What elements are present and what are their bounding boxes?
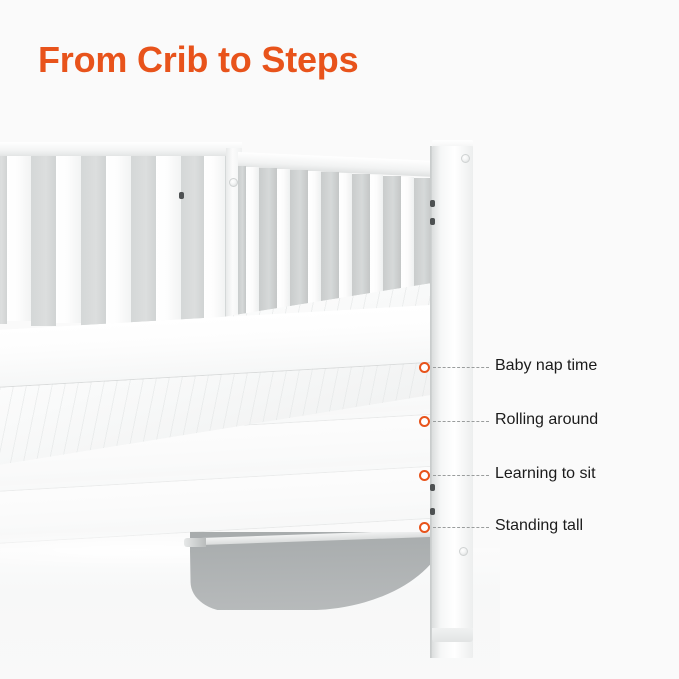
screw-icon xyxy=(430,508,435,515)
callout-label-learning-to-sit: Learning to sit xyxy=(495,464,596,484)
crib-slat xyxy=(56,156,81,323)
mattress-level-1 xyxy=(0,304,446,362)
screw-icon xyxy=(430,200,435,207)
screw-cap-icon xyxy=(461,154,470,163)
callout-label-rolling-around: Rolling around xyxy=(495,410,598,430)
callout-marker-icon xyxy=(419,522,430,533)
product-photo xyxy=(0,130,500,679)
screw-icon xyxy=(179,192,184,199)
crib-slat xyxy=(7,156,31,321)
screw-cap-icon xyxy=(229,178,238,187)
callout-leader-line xyxy=(433,475,489,476)
callout-label-baby-nap-time: Baby nap time xyxy=(495,356,597,376)
crib-corner-post-front xyxy=(432,146,473,658)
rail-gap xyxy=(0,156,7,324)
callout-leader-line xyxy=(433,421,489,422)
crib-lower-apron xyxy=(190,532,440,610)
screenshot-canvas: From Crib to Steps xyxy=(0,0,679,679)
screw-cap-icon xyxy=(459,547,468,556)
screw-icon xyxy=(430,484,435,491)
callout-leader-line xyxy=(433,527,489,528)
callout-marker-icon xyxy=(419,470,430,481)
callout-leader-line xyxy=(433,367,489,368)
screw-icon xyxy=(430,218,435,225)
callout-marker-icon xyxy=(419,362,430,373)
crib-slat xyxy=(106,156,131,326)
apron-left-tip xyxy=(184,538,206,547)
crib-post-foot xyxy=(432,628,473,642)
rail-gap xyxy=(31,156,56,326)
callout-marker-icon xyxy=(419,416,430,427)
page-title: From Crib to Steps xyxy=(38,38,358,82)
rail-gap xyxy=(81,156,106,328)
crib-top-rail-left xyxy=(0,142,242,156)
callout-label-standing-tall: Standing tall xyxy=(495,516,583,536)
